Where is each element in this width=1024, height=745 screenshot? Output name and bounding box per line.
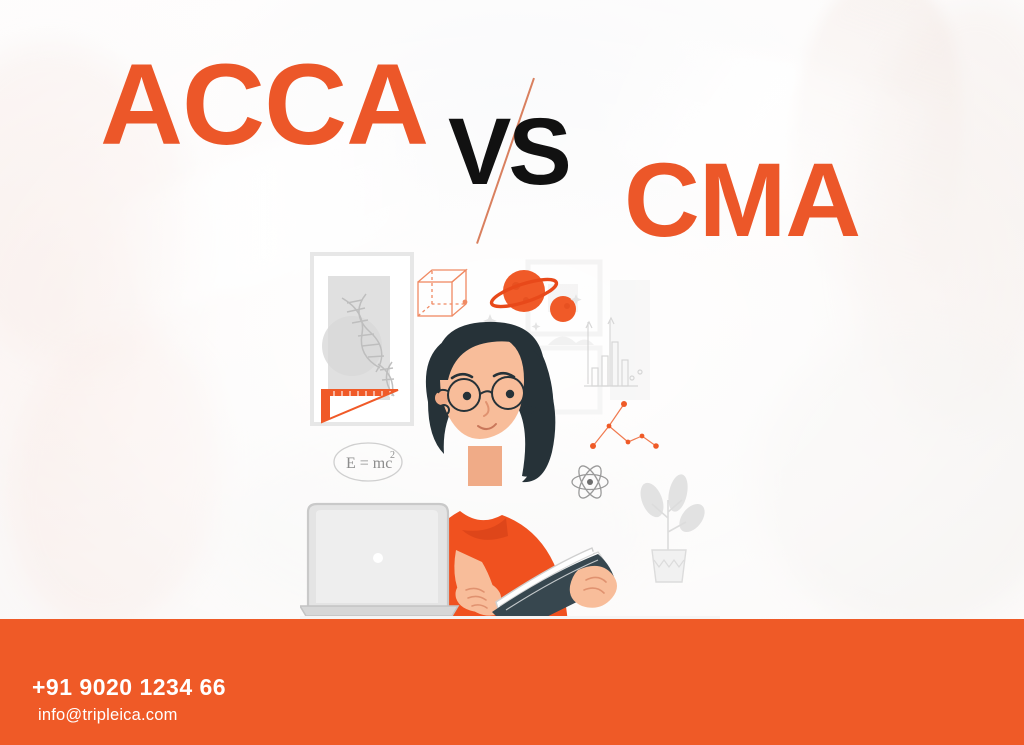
headline-word-cma: CMA — [624, 148, 860, 253]
neck — [468, 446, 502, 486]
student-illustration: E = mc 2 — [300, 250, 720, 625]
contact-info: +91 9020 1234 66 info@tripleica.com — [32, 675, 226, 724]
hand-right — [570, 566, 617, 608]
formula-exponent: 2 — [390, 450, 395, 461]
ghost-shape — [548, 336, 594, 345]
laptop-icon — [300, 504, 458, 616]
wireframe-cube-icon — [418, 270, 467, 316]
eye — [506, 390, 514, 398]
potted-plant-icon — [636, 473, 710, 582]
eye — [463, 392, 471, 400]
illustration-svg: E = mc 2 — [300, 250, 720, 625]
ear — [435, 391, 449, 405]
headline-group: ACCA VS CMA — [0, 0, 1024, 250]
formula-text: E = mc — [346, 455, 392, 472]
contact-email[interactable]: info@tripleica.com — [38, 706, 226, 724]
contact-phone[interactable]: +91 9020 1234 66 — [32, 675, 226, 700]
atom-symbol-icon — [572, 463, 608, 502]
headline-word-acca: ACCA — [100, 48, 428, 163]
headline-word-vs: VS — [448, 105, 569, 200]
promotional-banner: ACCA VS CMA — [0, 0, 1024, 745]
emc2-formula-icon: E = mc 2 — [334, 443, 402, 481]
footer-bar: +91 9020 1234 66 info@tripleica.com TRIP… — [0, 619, 1024, 745]
